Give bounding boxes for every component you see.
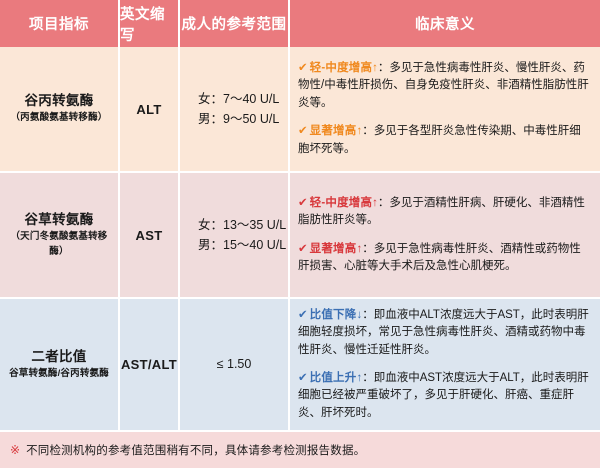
clinical-significance-cell: ✔轻-中度增高↑：多见于急性病毒性肝炎、慢性肝炎、药物性/中毒性肝损伤、自身免疫… — [290, 47, 600, 171]
significance-separator: ： — [362, 243, 374, 255]
significance-key: 轻-中度增高 — [310, 197, 373, 209]
indicator-name: 二者比值 — [31, 348, 86, 366]
significance-item: ✔轻-中度增高↑：多见于急性病毒性肝炎、慢性肝炎、药物性/中毒性肝损伤、自身免疫… — [298, 60, 591, 112]
significance-separator: ： — [362, 125, 374, 137]
significance-item: ✔轻-中度增高↑：多见于酒精性肝病、肝硬化、非酒精性脂肪性肝炎等。 — [298, 195, 591, 230]
significance-item: ✔显著增高↑：多见于急性病毒性肝炎、酒精性或药物性肝损害、心脏等大手术后及急性心… — [298, 241, 591, 276]
range-line-threshold: ≤ 1.50 — [217, 354, 252, 374]
lab-reference-table: 项目指标 英文缩写 成人的参考范围 临床意义 谷丙转氨酶 （丙氨酸氨基转移酶） … — [0, 0, 600, 468]
indicator-name-cell: 谷草转氨酶 （天门冬氨酸氨基转移酶） — [0, 173, 120, 297]
table-row: 谷草转氨酶 （天门冬氨酸氨基转移酶） AST 女：13～35 U/L 男：15～… — [0, 173, 600, 299]
significance-key: 轻-中度增高 — [310, 62, 373, 74]
reference-mark-icon: ※ — [10, 444, 20, 456]
range-line-male: 男：9～50 U/L — [198, 109, 279, 129]
indicator-name-cell: 谷丙转氨酶 （丙氨酸氨基转移酶） — [0, 47, 120, 171]
indicator-name: 谷丙转氨酶 — [25, 92, 94, 110]
check-icon: ✔ — [298, 243, 308, 255]
clinical-significance-cell: ✔比值下降↓：即血液中ALT浓度远大于AST，此时表明肝细胞轻度损坏，常见于急性… — [290, 299, 600, 430]
column-header-indicator: 项目指标 — [0, 0, 120, 47]
indicator-name-alias: （天门冬氨酸氨基转移酶） — [4, 230, 114, 259]
reference-range-cell: ≤ 1.50 — [180, 299, 290, 430]
check-icon: ✔ — [298, 197, 308, 209]
abbreviation-value: ALT — [136, 102, 161, 117]
check-icon: ✔ — [298, 62, 308, 74]
check-icon: ✔ — [298, 125, 308, 137]
significance-key: 显著增高 — [310, 125, 357, 137]
reference-range-cell: 女：7～40 U/L 男：9～50 U/L — [180, 47, 290, 171]
significance-key: 比值上升 — [310, 372, 357, 384]
footer-note-text: 不同检测机构的参考值范围稍有不同，具体请参考检测报告数据。 — [26, 442, 365, 458]
significance-item: ✔显著增高↑：多见于各型肝炎急性传染期、中毒性肝细胞坏死等。 — [298, 123, 591, 158]
significance-separator: ： — [378, 197, 390, 209]
abbreviation-cell: ALT — [120, 47, 180, 171]
significance-separator: ： — [378, 62, 390, 74]
indicator-name-cell: 二者比值 谷草转氨酶/谷丙转氨酶 — [0, 299, 120, 430]
table-row: 二者比值 谷草转氨酶/谷丙转氨酶 AST/ALT ≤ 1.50 ✔比值下降↓：即… — [0, 299, 600, 432]
indicator-name-alias: 谷草转氨酶/谷丙转氨酶 — [9, 367, 109, 381]
abbreviation-value: AST/ALT — [121, 357, 177, 372]
reference-range-cell: 女：13～35 U/L 男：15～40 U/L — [180, 173, 290, 297]
significance-key: 比值下降 — [310, 309, 357, 321]
significance-separator: ： — [362, 372, 374, 384]
column-header-reference-range: 成人的参考范围 — [180, 0, 290, 47]
indicator-name: 谷草转氨酶 — [25, 211, 94, 229]
abbreviation-cell: AST/ALT — [120, 299, 180, 430]
clinical-significance-cell: ✔轻-中度增高↑：多见于酒精性肝病、肝硬化、非酒精性脂肪性肝炎等。 ✔显著增高↑… — [290, 173, 600, 297]
significance-item: ✔比值上升↑：即血液中AST浓度远大于ALT，此时表明肝细胞已经被严重破坏了，多… — [298, 370, 591, 422]
check-icon: ✔ — [298, 309, 308, 321]
significance-separator: ： — [362, 309, 374, 321]
abbreviation-cell: AST — [120, 173, 180, 297]
check-icon: ✔ — [298, 372, 308, 384]
indicator-name-alias: （丙氨酸氨基转移酶） — [10, 111, 107, 125]
significance-key: 显著增高 — [310, 243, 357, 255]
footer-note: ※ 不同检测机构的参考值范围稍有不同，具体请参考检测报告数据。 — [0, 432, 600, 468]
column-header-abbreviation: 英文缩写 — [120, 0, 180, 47]
significance-item: ✔比值下降↓：即血液中ALT浓度远大于AST，此时表明肝细胞轻度损坏，常见于急性… — [298, 307, 591, 359]
column-header-clinical-significance: 临床意义 — [290, 0, 600, 47]
abbreviation-value: AST — [136, 228, 163, 243]
range-line-female: 女：13～35 U/L — [198, 215, 286, 235]
range-line-female: 女：7～40 U/L — [198, 89, 279, 109]
range-line-male: 男：15～40 U/L — [198, 235, 286, 255]
table-header-row: 项目指标 英文缩写 成人的参考范围 临床意义 — [0, 0, 600, 47]
table-row: 谷丙转氨酶 （丙氨酸氨基转移酶） ALT 女：7～40 U/L 男：9～50 U… — [0, 47, 600, 173]
